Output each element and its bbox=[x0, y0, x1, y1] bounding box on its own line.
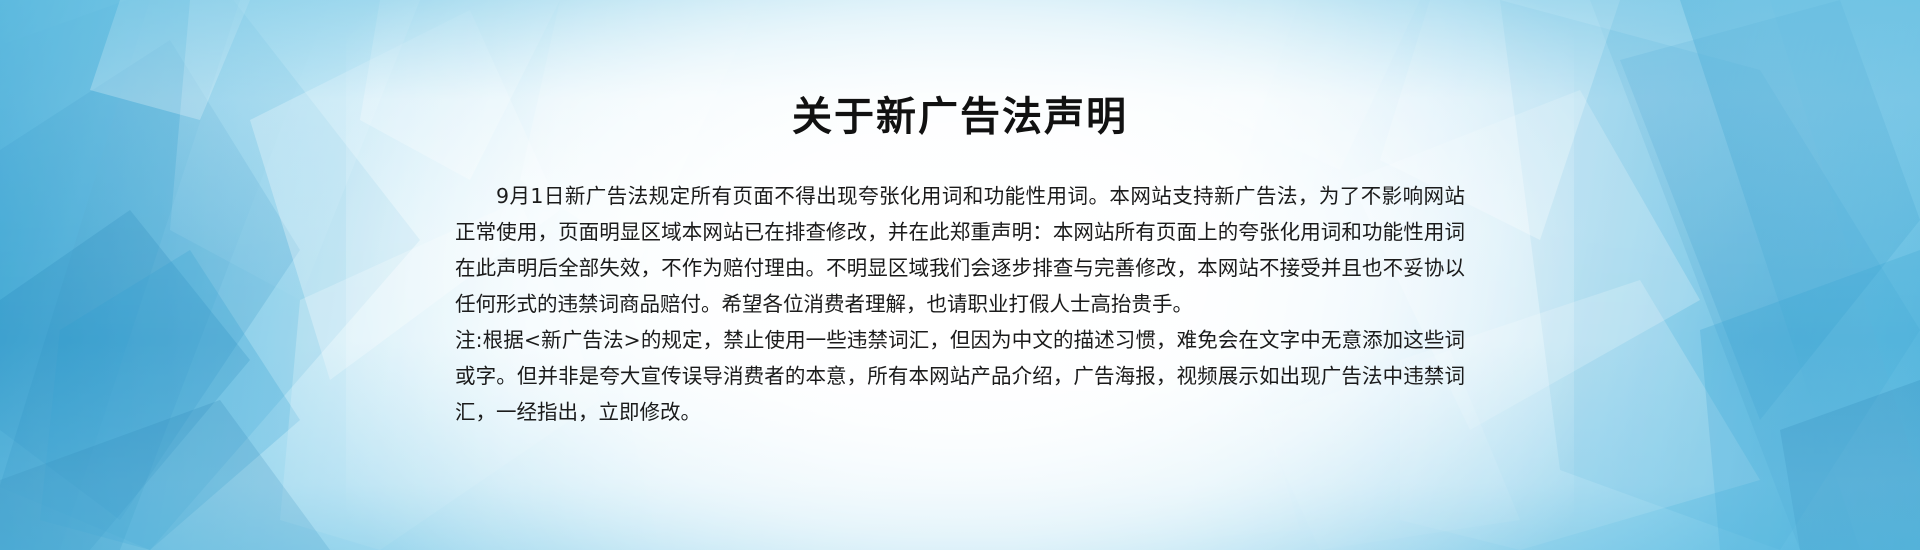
advertising-law-statement-banner: 关于新广告法声明 9月1日新广告法规定所有页面不得出现夸张化用词和功能性用词。本… bbox=[0, 0, 1920, 550]
statement-body: 9月1日新广告法规定所有页面不得出现夸张化用词和功能性用词。本网站支持新广告法，… bbox=[455, 178, 1465, 430]
page-title: 关于新广告法声明 bbox=[0, 84, 1920, 142]
statement-paragraph-main: 9月1日新广告法规定所有页面不得出现夸张化用词和功能性用词。本网站支持新广告法，… bbox=[455, 178, 1465, 322]
statement-paragraph-note: 注:根据<新广告法>的规定，禁止使用一些违禁词汇，但因为中文的描述习惯，难免会在… bbox=[455, 322, 1465, 430]
statement-content: 关于新广告法声明 9月1日新广告法规定所有页面不得出现夸张化用词和功能性用词。本… bbox=[0, 0, 1920, 550]
